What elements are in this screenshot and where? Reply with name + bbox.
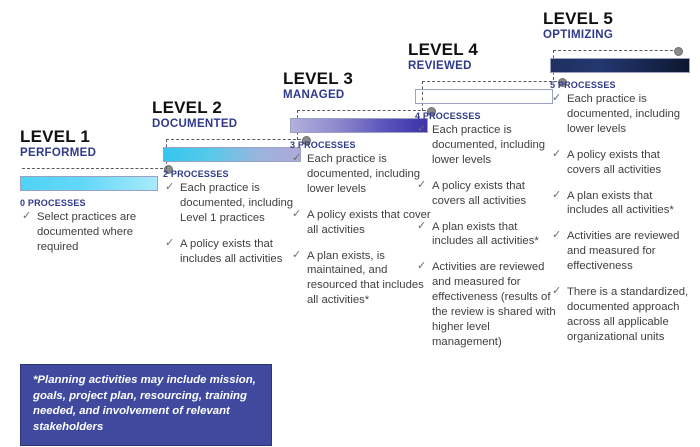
- check-icon: ✓: [552, 284, 561, 299]
- bullet-text: A plan exists that includes all activiti…: [567, 190, 674, 217]
- bullet-text: Activities are reviewed and measured for…: [432, 261, 556, 348]
- check-icon: ✓: [417, 178, 426, 193]
- bullet-list-3: ✓ Each practice is documented, including…: [292, 152, 432, 319]
- connector-line-4: [422, 81, 562, 82]
- connector-line-1: [22, 168, 168, 169]
- level-column-4: LEVEL 4 REVIEWED: [408, 41, 546, 72]
- bullet-text: A policy exists that includes all activi…: [180, 238, 282, 265]
- bullet-text: There is a standardized, documented appr…: [567, 286, 688, 343]
- bullet-item: ✓ A plan exists, is maintained, and reso…: [292, 249, 432, 309]
- level-column-2: LEVEL 2 DOCUMENTED: [152, 99, 290, 130]
- check-icon: ✓: [417, 122, 426, 137]
- process-count-2: 2 PROCESSES: [163, 169, 229, 179]
- level-column-1: LEVEL 1 PERFORMED: [20, 128, 158, 159]
- level-title-4: LEVEL 4: [408, 41, 546, 59]
- maturity-model-diagram: LEVEL 1 PERFORMED 0 PROCESSES ✓ Select p…: [0, 0, 700, 447]
- bullet-text: A policy exists that covers all activiti…: [432, 180, 526, 207]
- level-title-3: LEVEL 3: [283, 70, 421, 88]
- bullet-text: Each practice is documented, including l…: [307, 153, 420, 195]
- bullet-text: A plan exists that includes all activiti…: [432, 221, 539, 248]
- level-column-5: LEVEL 5 OPTIMIZING: [543, 10, 681, 41]
- connector-line-3: [297, 110, 431, 111]
- level-bar-3: [290, 118, 428, 133]
- level-bar-2: [163, 147, 301, 162]
- process-count-5: 5 PROCESSES: [550, 80, 616, 90]
- bullet-text: A plan exists, is maintained, and resour…: [307, 250, 424, 307]
- bullet-item: ✓ There is a standardized, documented ap…: [552, 285, 692, 345]
- connector-node-5: [674, 47, 683, 56]
- check-icon: ✓: [165, 180, 174, 195]
- bullet-item: ✓ Each practice is documented, including…: [552, 92, 692, 137]
- bullet-list-1: ✓ Select practices are documented where …: [22, 210, 162, 266]
- check-icon: ✓: [292, 207, 301, 222]
- bullet-item: ✓ Each practice is documented, including…: [165, 181, 305, 226]
- check-icon: ✓: [292, 151, 301, 166]
- level-bar-1: [20, 176, 158, 191]
- bullet-item: ✓ A policy exists that cover all activit…: [292, 208, 432, 238]
- level-bar-4: [415, 89, 553, 104]
- bullet-list-2: ✓ Each practice is documented, including…: [165, 181, 305, 278]
- check-icon: ✓: [417, 219, 426, 234]
- check-icon: ✓: [292, 248, 301, 263]
- bullet-item: ✓ Each practice is documented, including…: [417, 123, 557, 168]
- bullet-item: ✓ A policy exists that covers all activi…: [417, 179, 557, 209]
- bullet-item: ✓ Each practice is documented, including…: [292, 152, 432, 197]
- connector-line-2: [166, 139, 306, 140]
- bullet-text: A policy exists that cover all activitie…: [307, 209, 431, 236]
- bullet-text: A policy exists that covers all activiti…: [567, 149, 661, 176]
- bullet-item: ✓ A plan exists that includes all activi…: [552, 189, 692, 219]
- bullet-item: ✓ A policy exists that includes all acti…: [165, 237, 305, 267]
- bullet-item: ✓ Select practices are documented where …: [22, 210, 162, 255]
- check-icon: ✓: [552, 147, 561, 162]
- bullet-list-4: ✓ Each practice is documented, including…: [417, 123, 557, 361]
- bullet-text: Activities are reviewed and measured for…: [567, 230, 679, 272]
- process-count-3: 3 PROCESSES: [290, 140, 356, 150]
- bullet-item: ✓ Activities are reviewed and measured f…: [417, 260, 557, 349]
- check-icon: ✓: [552, 91, 561, 106]
- footnote-box: *Planning activities may include mission…: [20, 364, 272, 446]
- level-column-3: LEVEL 3 MANAGED: [283, 70, 421, 101]
- level-title-2: LEVEL 2: [152, 99, 290, 117]
- level-title-1: LEVEL 1: [20, 128, 158, 146]
- level-stage-3: MANAGED: [283, 89, 421, 102]
- level-stage-2: DOCUMENTED: [152, 118, 290, 131]
- check-icon: ✓: [552, 228, 561, 243]
- level-bar-5: [550, 58, 690, 73]
- bullet-text: Each practice is documented, including L…: [180, 182, 293, 224]
- check-icon: ✓: [165, 236, 174, 251]
- level-title-5: LEVEL 5: [543, 10, 681, 28]
- bullet-list-5: ✓ Each practice is documented, including…: [552, 92, 692, 356]
- check-icon: ✓: [552, 188, 561, 203]
- check-icon: ✓: [417, 259, 426, 274]
- bullet-text: Each practice is documented, including l…: [432, 124, 545, 166]
- bullet-item: ✓ A policy exists that covers all activi…: [552, 148, 692, 178]
- level-stage-4: REVIEWED: [408, 60, 546, 73]
- connector-line-5: [553, 50, 678, 51]
- process-count-4: 4 PROCESSES: [415, 111, 481, 121]
- level-stage-5: OPTIMIZING: [543, 29, 681, 42]
- process-count-1: 0 PROCESSES: [20, 198, 86, 208]
- level-stage-1: PERFORMED: [20, 147, 158, 160]
- bullet-item: ✓ Activities are reviewed and measured f…: [552, 229, 692, 274]
- bullet-item: ✓ A plan exists that includes all activi…: [417, 220, 557, 250]
- bullet-text: Select practices are documented where re…: [37, 211, 136, 253]
- check-icon: ✓: [22, 209, 31, 224]
- bullet-text: Each practice is documented, including l…: [567, 93, 680, 135]
